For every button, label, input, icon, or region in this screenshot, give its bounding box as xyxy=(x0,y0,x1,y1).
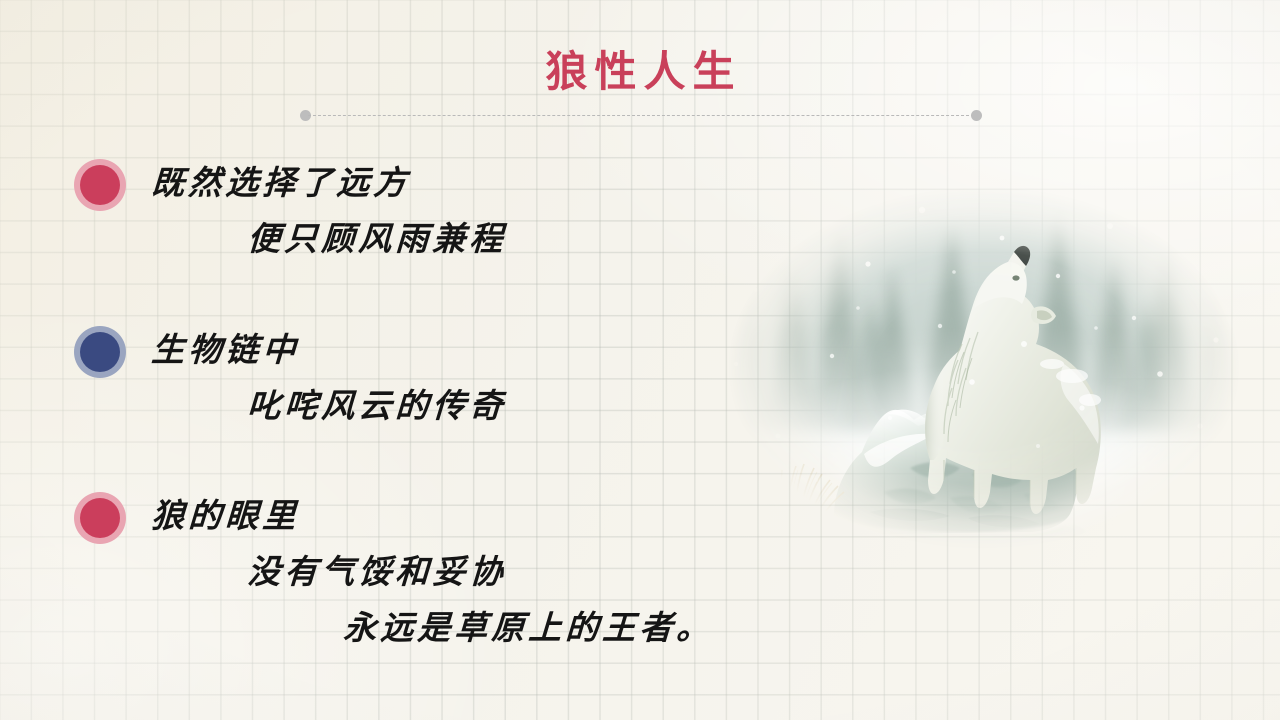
verse-lines: 生物链中 叱咤风云的传奇 xyxy=(150,322,850,434)
bullet-core-icon xyxy=(80,332,120,372)
divider-dashed-line xyxy=(308,115,974,116)
bullet-core-icon xyxy=(80,165,120,205)
page-title: 狼性人生 xyxy=(0,48,1280,96)
verse-line: 既然选择了远方 xyxy=(150,155,853,211)
verse-line: 永远是草原上的王者。 xyxy=(150,600,853,656)
divider-dot-right-icon xyxy=(971,110,982,121)
dotted-divider xyxy=(300,110,982,121)
slide-canvas: 狼性人生 xyxy=(0,0,1280,720)
verse-line: 狼的眼里 xyxy=(150,488,853,544)
verse-line: 叱咤风云的传奇 xyxy=(150,378,853,434)
verse-line: 生物链中 xyxy=(150,322,853,378)
verse-lines: 狼的眼里 没有气馁和妥协 永远是草原上的王者。 xyxy=(150,488,850,656)
bullet-marker-2 xyxy=(74,326,126,378)
verse-line: 便只顾风雨兼程 xyxy=(150,211,853,267)
bullet-marker-3 xyxy=(74,492,126,544)
bullet-core-icon xyxy=(80,498,120,538)
verse-lines: 既然选择了远方 便只顾风雨兼程 xyxy=(150,155,850,267)
verse-line: 没有气馁和妥协 xyxy=(150,544,853,600)
bullet-marker-1 xyxy=(74,159,126,211)
